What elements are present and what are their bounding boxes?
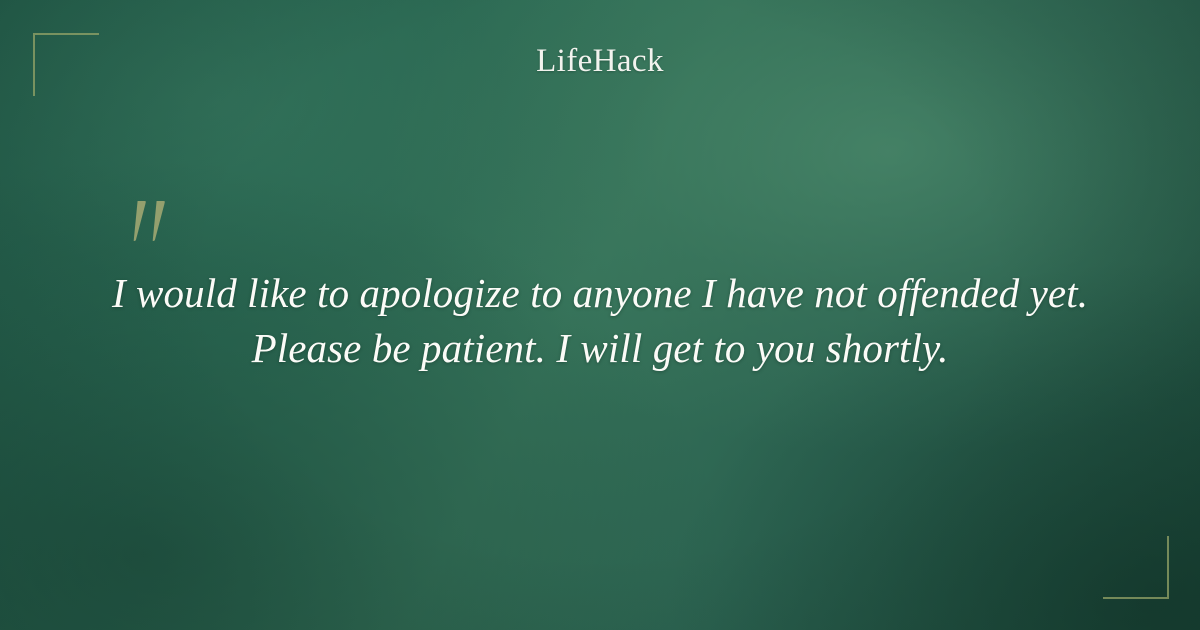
corner-bracket-bottom-right-icon: [1103, 536, 1169, 599]
quote-stroke-right: [148, 201, 165, 241]
quotation-mark-icon: [132, 201, 178, 247]
bracket-horizontal-rule: [33, 33, 99, 35]
bracket-horizontal-rule: [1103, 597, 1169, 599]
quote-card-canvas: LifeHack I would like to apologize to an…: [0, 0, 1200, 630]
quote-block: I would like to apologize to anyone I ha…: [100, 266, 1100, 376]
brand-logo: LifeHack: [0, 40, 1200, 82]
quote-text: I would like to apologize to anyone I ha…: [100, 266, 1100, 376]
bracket-vertical-rule: [1167, 536, 1169, 599]
quote-stroke-left: [129, 201, 146, 241]
